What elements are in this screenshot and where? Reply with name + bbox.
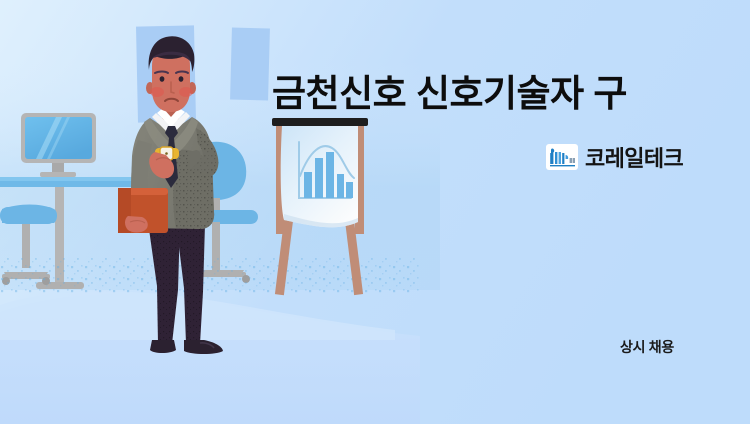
banner-content: 금천신호 신호기술자 구 코레일테크 상시 채용 [0, 0, 750, 424]
job-posting-banner: 금천신호 신호기술자 구 코레일테크 상시 채용 [0, 0, 750, 424]
status-badge: 상시 채용 [620, 337, 674, 357]
korail-logo-icon [546, 144, 578, 170]
brand-lockup: 코레일테크 [546, 141, 683, 173]
page-title: 금천신호 신호기술자 구 [272, 72, 692, 116]
brand-name: 코레일테크 [585, 141, 683, 173]
